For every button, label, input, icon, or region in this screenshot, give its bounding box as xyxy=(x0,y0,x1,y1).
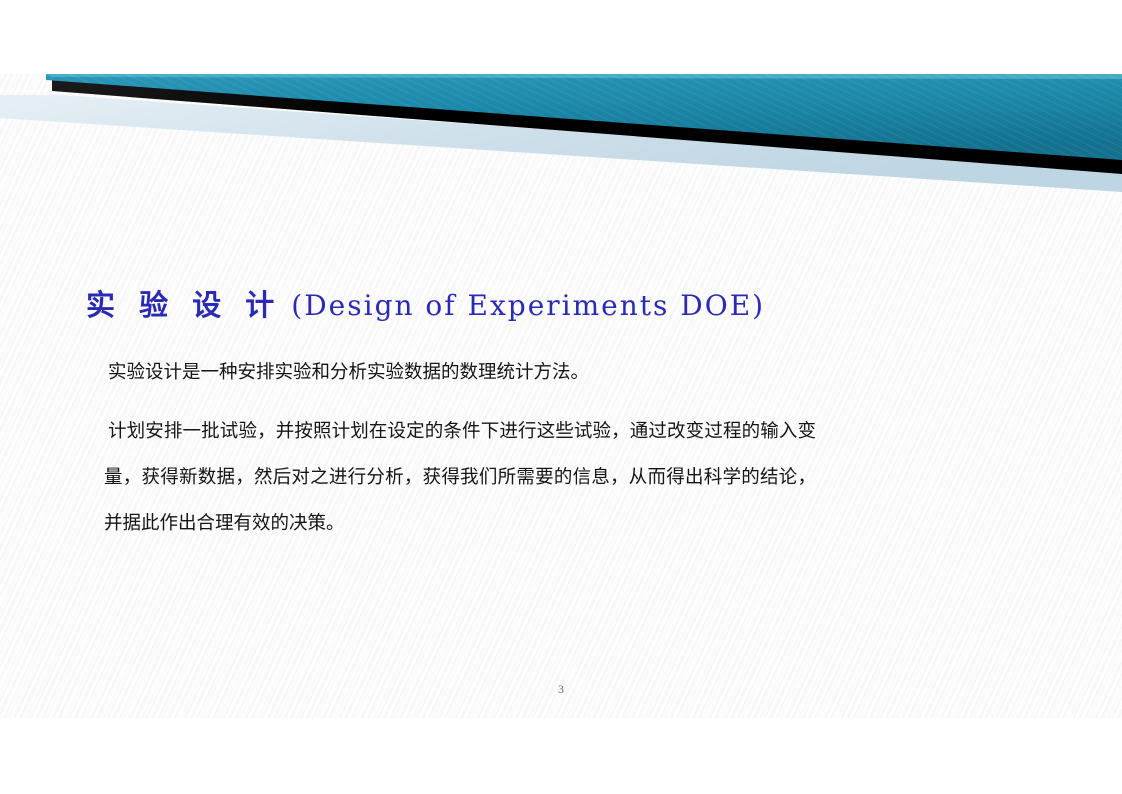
banner-band-teal xyxy=(46,74,1122,160)
banner-teal-highlight xyxy=(46,74,1122,79)
body-paragraph-1: 实验设计是一种安排实验和分析实验数据的数理统计方法。 xyxy=(104,350,816,396)
page-title-chinese: 实 验 设 计 xyxy=(86,288,281,322)
banner-band-light xyxy=(0,95,1122,192)
banner-texture-overlay xyxy=(46,74,1122,160)
page-title: 实 验 设 计(Design of Experiments DOE) xyxy=(86,282,765,324)
page-number: 3 xyxy=(0,682,1122,697)
slide-canvas: 实 验 设 计(Design of Experiments DOE) 实验设计是… xyxy=(0,74,1122,718)
body-paragraph-2: 计划安排一批试验，并按照计划在设定的条件下进行这些试验，通过改变过程的输入变量，… xyxy=(104,409,816,547)
body-text-block: 实验设计是一种安排实验和分析实验数据的数理统计方法。 计划安排一批试验，并按照计… xyxy=(104,350,816,547)
diagonal-banner-graphic xyxy=(0,74,1122,192)
slide-page: 实 验 设 计(Design of Experiments DOE) 实验设计是… xyxy=(0,0,1122,794)
banner-svg xyxy=(0,74,1122,192)
page-title-english: (Design of Experiments DOE) xyxy=(291,289,765,322)
banner-band-black xyxy=(52,77,1122,174)
